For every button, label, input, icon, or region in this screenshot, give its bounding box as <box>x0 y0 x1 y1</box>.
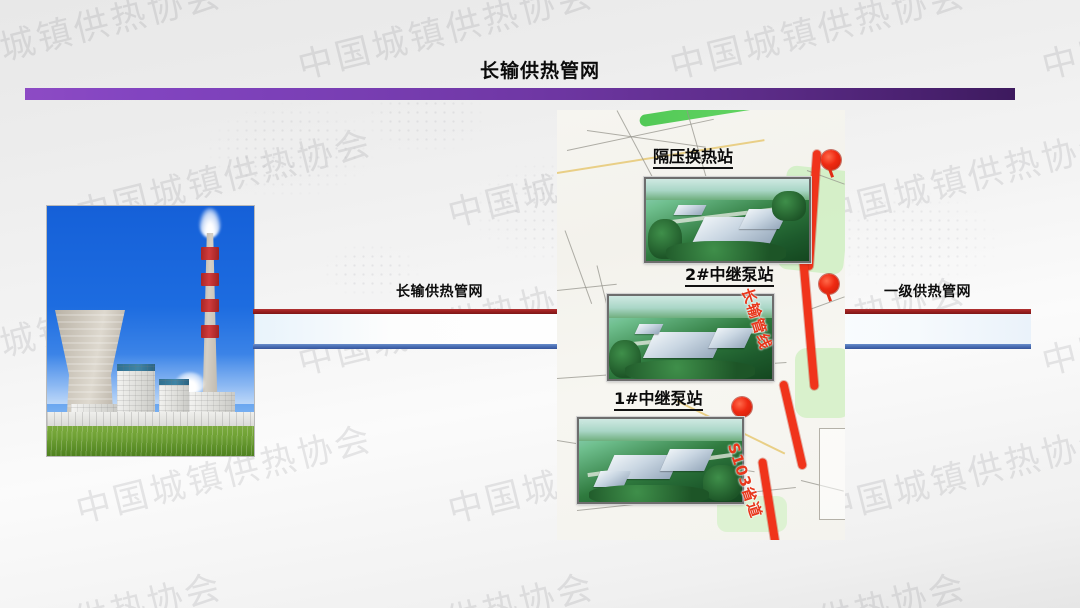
station-label-pump-2: 2#中继泵站 <box>685 267 774 287</box>
map-minor-road <box>565 230 593 304</box>
station-marker-heat-exchange[interactable] <box>821 150 841 170</box>
watermark-text: 中国城镇供热协会 <box>292 558 599 608</box>
inset-trees <box>625 360 755 381</box>
watermark-text: 中国城镇供热协会 <box>1036 558 1080 608</box>
station-photo-pump-1: · <box>577 417 744 504</box>
label-long-distance-network: 长输供热管网 <box>396 281 483 301</box>
power-plant-photo <box>46 205 255 457</box>
chimney-stripe <box>201 247 219 260</box>
foreground-grass <box>47 426 254 456</box>
plant-building <box>117 371 155 416</box>
station-label-pump-1: 1#中继泵站 <box>614 391 703 411</box>
inset-caption: · <box>582 421 583 425</box>
watermark-text: 中国城镇供热协会 <box>0 410 5 533</box>
watermark-text: 中国城镇供热协会 <box>814 114 1080 237</box>
inset-warehouse <box>674 205 707 215</box>
map-inset-box <box>819 428 845 520</box>
route-map: 隔压换热站 2#中继泵站 1#中继泵站 · <box>557 110 845 540</box>
title-accent-bar <box>25 88 1015 100</box>
watermark-text: 中国城镇供热协会 <box>814 410 1080 533</box>
inset-warehouse <box>635 324 664 334</box>
watermark-text: 中国城镇供热协会 <box>0 558 227 608</box>
label-primary-network: 一级供热管网 <box>884 281 971 301</box>
watermark-text: 中国城镇供热协会 <box>0 114 5 237</box>
inset-trees <box>772 191 806 221</box>
inset-trees <box>589 485 709 504</box>
page-title: 长输供热管网 <box>0 56 1080 83</box>
station-marker-pump-1[interactable] <box>732 397 752 417</box>
station-photo-heat-exchange <box>644 177 811 263</box>
inset-warehouse <box>660 449 714 471</box>
inset-trees <box>666 241 786 263</box>
map-green-area <box>639 110 759 127</box>
station-label-heat-exchange: 隔压换热站 <box>653 149 733 169</box>
map-minor-road <box>807 296 845 311</box>
station-marker-pump-2[interactable] <box>819 274 839 294</box>
watermark-text: 中国城镇供热协会 <box>1036 262 1080 385</box>
inset-sky <box>579 419 742 441</box>
slide-root: 中国城镇供热协会中国城镇供热协会中国城镇供热协会中国城镇供热协会中国城镇供热协会… <box>0 0 1080 608</box>
chimney-stripe <box>201 325 219 338</box>
inset-warehouse <box>708 328 753 348</box>
watermark-text: 中国城镇供热协会 <box>664 558 971 608</box>
chimney-stripe <box>201 299 219 312</box>
chimney-stripe <box>201 273 219 286</box>
map-green-area <box>795 348 845 418</box>
